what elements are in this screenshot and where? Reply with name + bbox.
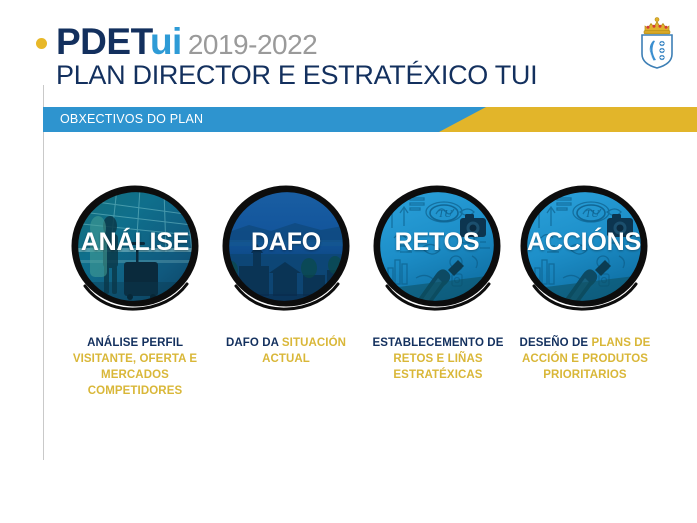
slide-canvas: PDETui2019-2022 PLAN DIRECTOR E ESTRATÉX… bbox=[0, 0, 697, 523]
section-banner-label: OBXECTIVOS DO PLAN bbox=[60, 112, 203, 126]
objective-circle-accions-label: ACCIÓNS bbox=[511, 230, 657, 255]
caption-accions-primary: DESEÑO DE bbox=[520, 337, 589, 349]
page-subtitle: PLAN DIRECTOR E ESTRATÉXICO TUI bbox=[56, 62, 537, 89]
objective-circle-dafo-label: DAFO bbox=[213, 230, 359, 255]
caption-analise: ANÁLISE PERFIL VISITANTE, OFERTA E MERCA… bbox=[56, 336, 214, 399]
caption-accions: DESEÑO DE PLANS DE ACCIÓN E PRODUTOS PRI… bbox=[508, 336, 662, 384]
objective-circle-retos-label: RETOS bbox=[364, 230, 510, 255]
caption-analise-secondary: VISITANTE, OFERTA E MERCADOS COMPETIDORE… bbox=[73, 353, 197, 397]
objective-circle-analise[interactable]: ANÁLISE bbox=[62, 182, 208, 317]
objective-circle-accions[interactable]: TU bbox=[511, 182, 657, 317]
brand-main-text: PDET bbox=[56, 21, 150, 62]
caption-dafo-primary: DAFO DA bbox=[226, 337, 279, 349]
objectives-caption-row: ANÁLISE PERFIL VISITANTE, OFERTA E MERCA… bbox=[0, 336, 697, 426]
caption-retos-secondary: RETOS E LIÑAS ESTRATÉXICAS bbox=[393, 353, 482, 381]
objective-circle-dafo[interactable]: DAFO bbox=[213, 182, 359, 317]
bullet-dot-icon bbox=[36, 38, 47, 49]
objectives-circle-row: ANÁLISE bbox=[0, 182, 697, 317]
slide-footer: VALORA bbox=[0, 462, 697, 523]
brand-years-text: 2019-2022 bbox=[188, 29, 317, 60]
brand-accent-text: ui bbox=[150, 21, 182, 62]
brand-title: PDETui2019-2022 bbox=[56, 23, 317, 60]
caption-analise-primary: ANÁLISE PERFIL bbox=[87, 337, 183, 349]
objective-circle-retos[interactable]: TU bbox=[364, 182, 510, 317]
objective-circle-analise-label: ANÁLISE bbox=[62, 230, 208, 255]
slide-header: PDETui2019-2022 PLAN DIRECTOR E ESTRATÉX… bbox=[0, 0, 697, 100]
section-banner: OBXECTIVOS DO PLAN bbox=[43, 107, 697, 132]
caption-retos: ESTABLECEMENTO DE RETOS E LIÑAS ESTRATÉX… bbox=[362, 336, 514, 384]
svg-text:TU: TU bbox=[585, 208, 600, 220]
caption-retos-primary: ESTABLECEMENTO DE bbox=[373, 337, 504, 349]
galicia-coat-of-arms-icon bbox=[633, 14, 681, 70]
caption-dafo: DAFO DA SITUACIÓN ACTUAL bbox=[216, 336, 356, 368]
svg-text:TU: TU bbox=[438, 208, 453, 220]
